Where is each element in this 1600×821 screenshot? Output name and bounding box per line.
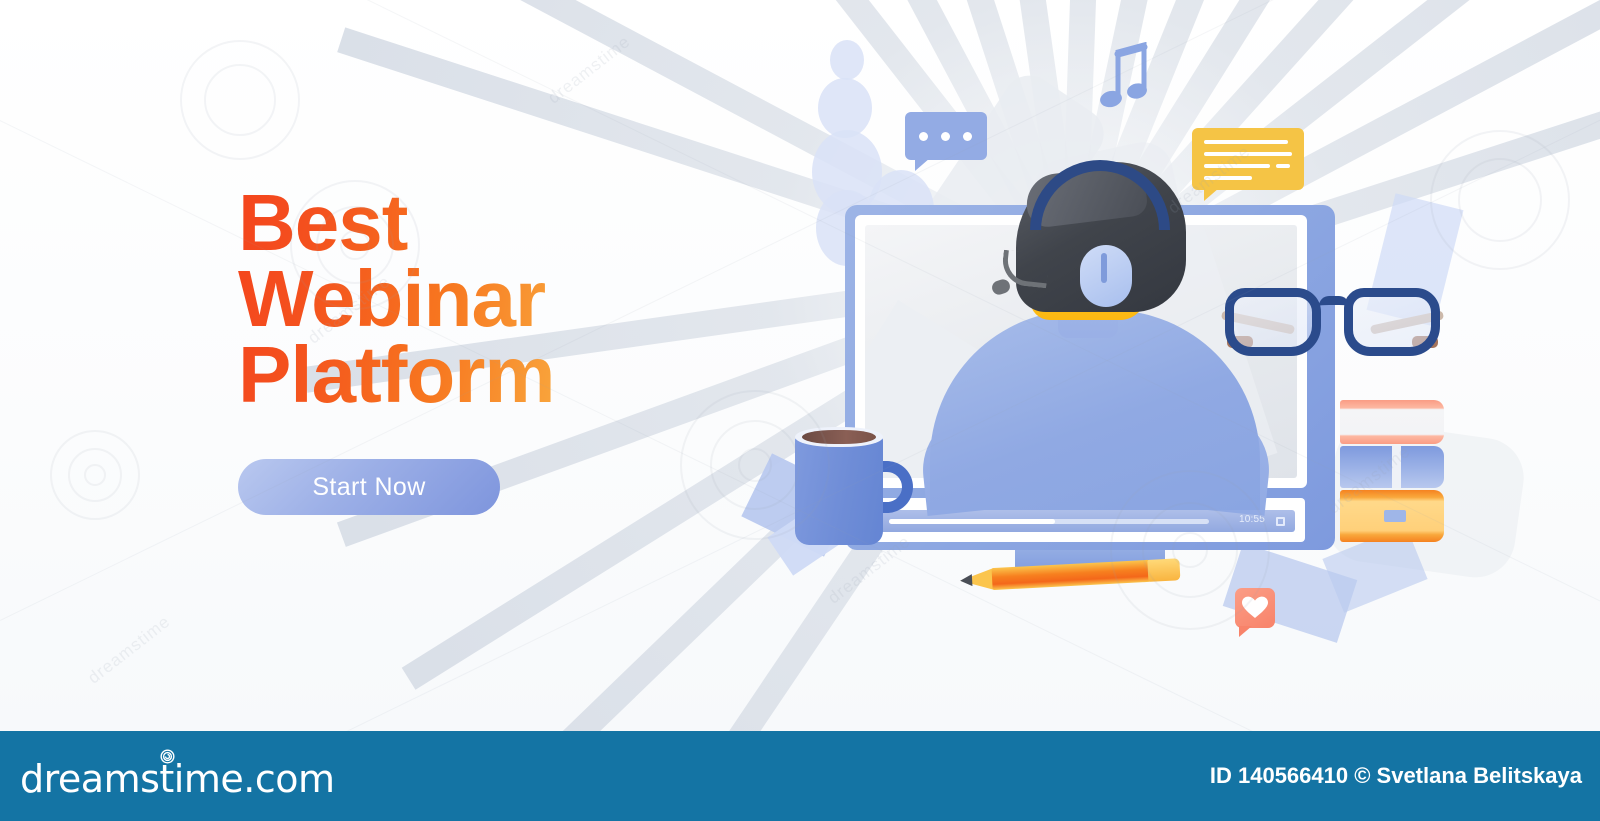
typing-indicator-bubble	[905, 112, 987, 160]
heart-icon	[1235, 588, 1275, 628]
image-credit: ID 140566410 © Svetlana Belitskaya	[1210, 763, 1582, 789]
spiral-icon	[158, 747, 177, 766]
webinar-host	[930, 160, 1260, 510]
dreamstime-logo: dreamstime.com	[20, 757, 334, 801]
illustration-canvas: 10:55	[0, 0, 1600, 731]
decor-blob-2	[818, 78, 872, 138]
like-heart-badge	[1235, 588, 1275, 628]
glasses-bridge	[1319, 296, 1349, 308]
start-now-button[interactable]: Start Now	[238, 459, 500, 515]
host-torso	[930, 310, 1260, 510]
message-bubble	[1192, 128, 1304, 190]
book-middle	[1340, 446, 1444, 488]
coffee-mug	[795, 425, 891, 545]
mug-body	[795, 433, 883, 545]
pencil-end	[1147, 558, 1180, 582]
headline-line-2: Webinar	[238, 261, 668, 337]
coffee-surface	[802, 430, 876, 444]
music-note-icon	[1100, 42, 1150, 110]
dreamstime-footer: dreamstime.com ID 140566410 © Svetlana B…	[0, 731, 1600, 821]
pencil	[959, 554, 1180, 595]
progress-track[interactable]	[889, 519, 1209, 524]
headphone-earcup-icon	[1080, 245, 1132, 307]
banner-stage: 10:55	[0, 0, 1600, 821]
hero-copy: Best Webinar Platform Start Now	[238, 185, 668, 515]
book-stack	[1340, 400, 1450, 550]
decor-blob-1	[830, 40, 864, 80]
page-title: Best Webinar Platform	[238, 185, 668, 413]
progress-fill	[889, 519, 1055, 524]
glasses-lens-left	[1225, 288, 1321, 356]
headline-line-3: Platform	[238, 337, 668, 413]
microphone-tip-icon	[990, 278, 1011, 297]
book-top	[1340, 400, 1444, 444]
book-bottom	[1340, 490, 1444, 542]
pencil-lead	[960, 574, 973, 587]
eyeglasses	[1225, 288, 1440, 370]
watermark-text: dreamstime	[84, 612, 174, 689]
glasses-lens-right	[1344, 288, 1440, 356]
headline-line-1: Best	[238, 185, 668, 261]
fullscreen-icon[interactable]	[1276, 517, 1285, 526]
pencil-body	[992, 560, 1151, 590]
